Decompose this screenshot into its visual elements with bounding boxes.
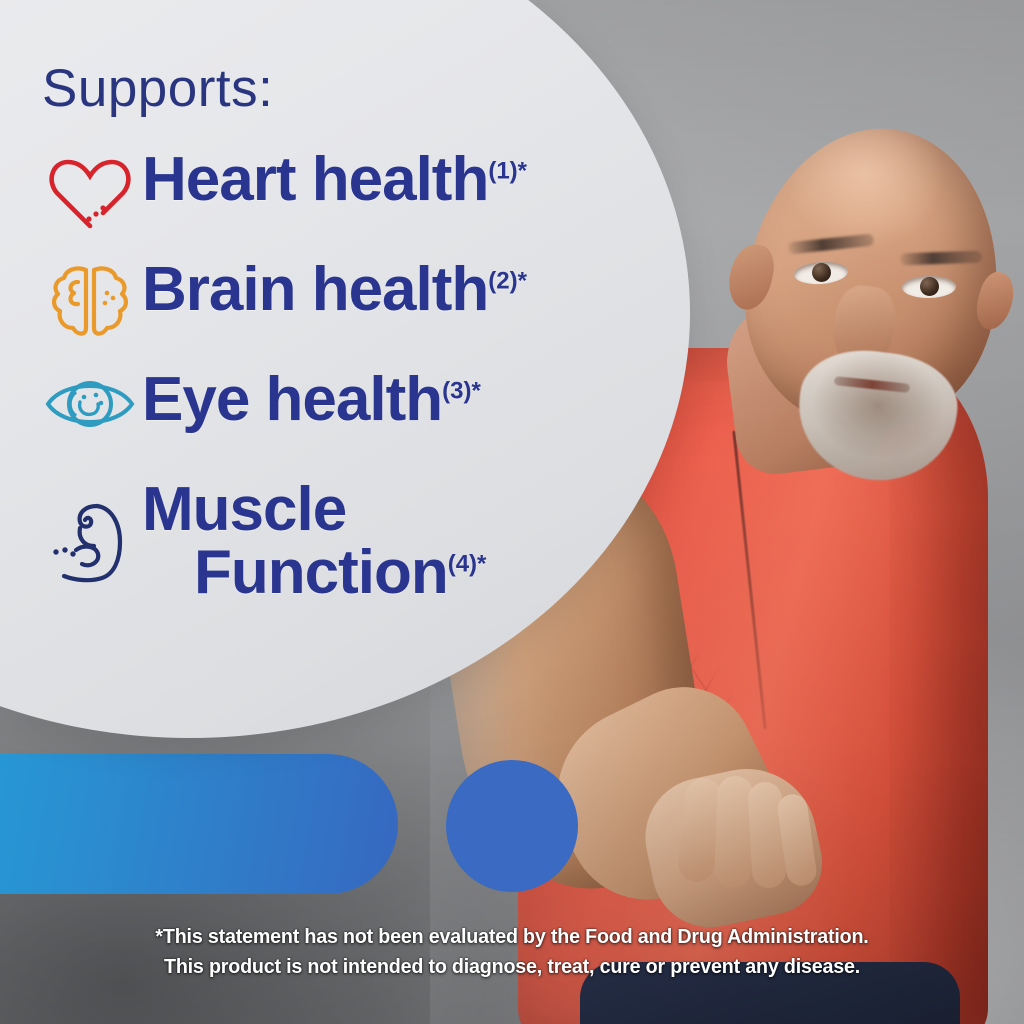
muscle-icon bbox=[38, 476, 142, 588]
benefit-superscript: (1)* bbox=[488, 157, 527, 184]
eye-icon bbox=[38, 366, 142, 436]
benefit-text: Heart health bbox=[142, 145, 488, 214]
disclaimer-line-2: This product is not intended to diagnose… bbox=[20, 952, 1003, 982]
benefit-item-heart: Heart health(1)* bbox=[0, 146, 700, 256]
benefit-label-heart: Heart health(1)* bbox=[142, 146, 527, 211]
benefit-superscript: (4)* bbox=[448, 551, 487, 578]
disclaimer-text: *This statement has not been evaluated b… bbox=[0, 922, 1024, 981]
benefit-text: Eye health bbox=[142, 365, 442, 434]
benefit-superscript: (2)* bbox=[488, 267, 527, 294]
content-layer: Supports: Heart health(1)* bbox=[0, 0, 700, 1024]
brain-icon bbox=[38, 256, 142, 344]
benefit-superscript: (3)* bbox=[442, 377, 481, 404]
benefit-item-eye: Eye health(3)* bbox=[0, 366, 700, 476]
page-title: Supports: bbox=[42, 58, 273, 119]
disclaimer-line-1: *This statement has not been evaluated b… bbox=[20, 922, 1003, 952]
benefit-label-brain: Brain health(2)* bbox=[142, 256, 527, 321]
benefit-item-brain: Brain health(2)* bbox=[0, 256, 700, 366]
benefit-text: Brain health bbox=[142, 255, 488, 324]
heart-icon bbox=[38, 146, 142, 234]
benefit-text: Muscle bbox=[142, 475, 346, 544]
benefit-label-eye: Eye health(3)* bbox=[142, 366, 481, 431]
benefits-list: Heart health(1)* bbox=[0, 146, 700, 636]
benefit-item-muscle: Muscle Function(4)* bbox=[0, 476, 700, 636]
benefit-text-line2: Function(4)* bbox=[142, 541, 486, 604]
promo-image-canvas: Supports: Heart health(1)* bbox=[0, 0, 1024, 1024]
benefit-label-muscle: Muscle Function(4)* bbox=[142, 476, 486, 604]
benefit-text: Function bbox=[194, 538, 448, 607]
